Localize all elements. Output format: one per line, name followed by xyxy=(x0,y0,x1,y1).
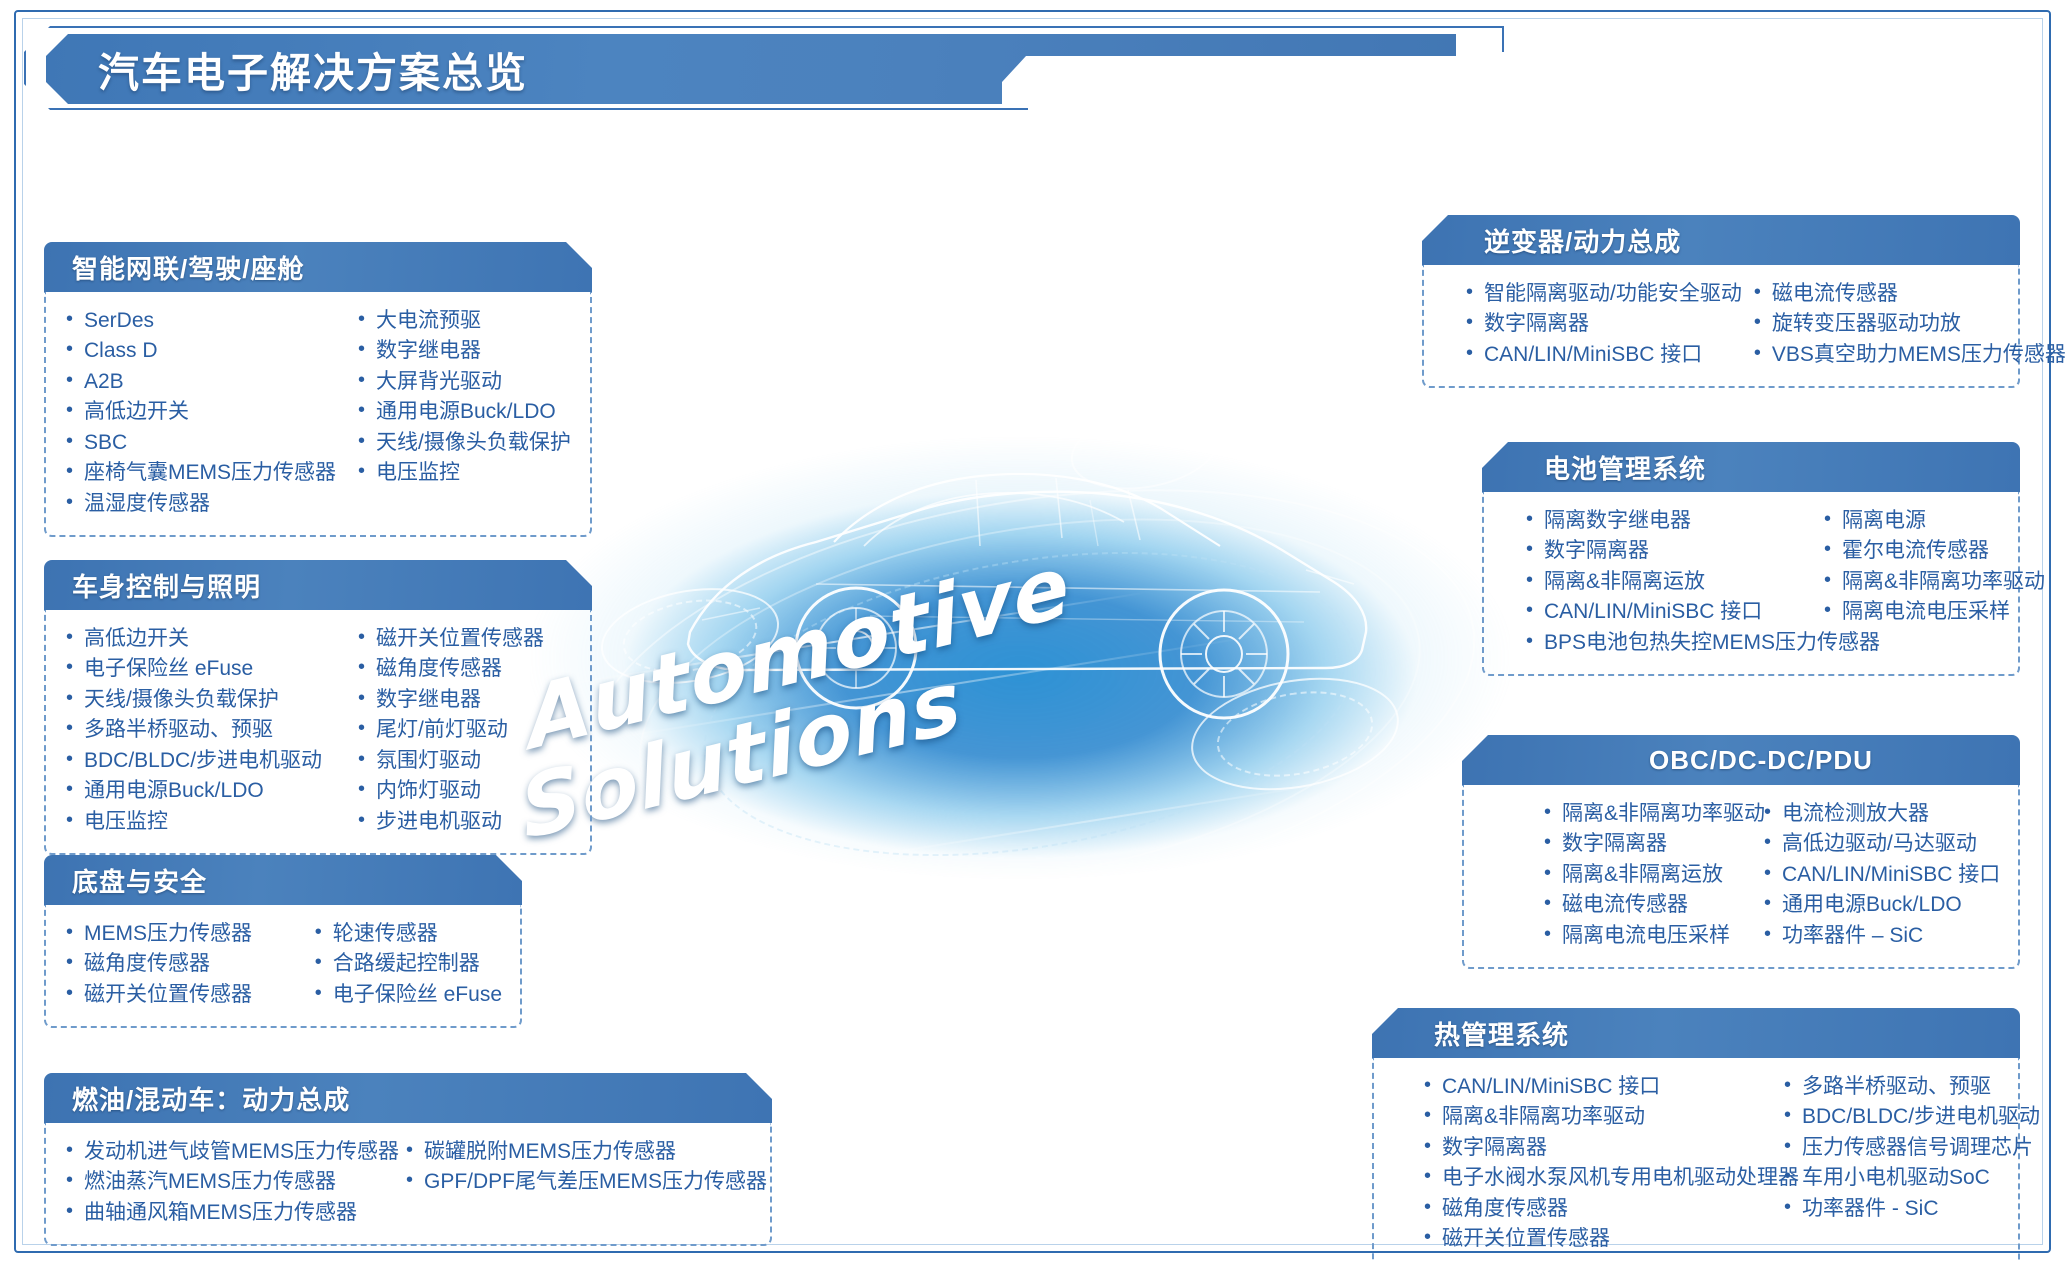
list-item: CAN/LIN/MiniSBC 接口 xyxy=(1422,1072,1772,1102)
list-item: A2B xyxy=(64,367,346,397)
list-item: 天线/摄像头负载保护 xyxy=(356,428,571,458)
list-item: 步进电机驱动 xyxy=(356,807,544,837)
panel-thermal-management-system-title: 热管理系统 xyxy=(1372,1008,2020,1058)
list-item: 功率器件 – SiC xyxy=(1762,921,2000,951)
list-item: 电子水阀水泵风机专用电机驱动处理器 xyxy=(1422,1163,1772,1193)
panel-chassis-safety-body: MEMS压力传感器 磁角度传感器 磁开关位置传感器 轮速传感器 合路缓起控制器 … xyxy=(44,905,522,1028)
panel-inverter-powertrain-body: 智能隔离驱动/功能安全驱动 数字隔离器 CAN/LIN/MiniSBC 接口 磁… xyxy=(1422,265,2020,388)
feature-list: 大电流预驱 数字继电器 大屏背光驱动 通用电源Buck/LDO 天线/摄像头负载… xyxy=(356,306,571,489)
panel-body-control-lighting-title: 车身控制与照明 xyxy=(44,560,592,610)
column-2: 大电流预驱 数字继电器 大屏背光驱动 通用电源Buck/LDO 天线/摄像头负载… xyxy=(356,306,571,519)
list-item: 隔离数字继电器 xyxy=(1524,506,1812,536)
panel-battery-management-system-title: 电池管理系统 xyxy=(1482,442,2020,492)
feature-list: 高低边开关 电子保险丝 eFuse 天线/摄像头负载保护 多路半桥驱动、预驱 B… xyxy=(64,624,346,837)
feature-list: 多路半桥驱动、预驱 BDC/BLDC/步进电机驱动 压力传感器信号调理芯片 车用… xyxy=(1782,1072,2040,1224)
list-item: 智能隔离驱动/功能安全驱动 xyxy=(1464,279,1742,309)
column-2: 轮速传感器 合路缓起控制器 电子保险丝 eFuse xyxy=(313,919,502,1010)
header-banner: 汽车电子解决方案总览 xyxy=(46,34,1456,104)
list-item: 磁角度传感器 xyxy=(1422,1194,1772,1224)
panel-obc-dcdc-pdu[interactable]: OBC/DC-DC/PDU 隔离&非隔离功率驱动 数字隔离器 隔离&非隔离运放 … xyxy=(1462,735,2020,969)
list-item: 电子保险丝 eFuse xyxy=(64,654,346,684)
list-item: 数字隔离器 xyxy=(1422,1133,1772,1163)
list-item: 多路半桥驱动、预驱 xyxy=(1782,1072,2040,1102)
panel-intelligent-cockpit-title: 智能网联/驾驶/座舱 xyxy=(44,242,592,292)
list-item: 隔离电源 xyxy=(1822,506,2045,536)
car-wireframe-icon xyxy=(620,370,1420,750)
column-2: 碳罐脱附MEMS压力传感器 GPF/DPF尾气差压MEMS压力传感器 xyxy=(404,1137,767,1228)
column-2: 多路半桥驱动、预驱 BDC/BLDC/步进电机驱动 压力传感器信号调理芯片 车用… xyxy=(1782,1072,2040,1255)
poster-root: 汽车电子解决方案总览 xyxy=(0,0,2065,1263)
list-item: 磁开关位置传感器 xyxy=(1422,1224,1772,1254)
panel-body-control-lighting[interactable]: 车身控制与照明 高低边开关 电子保险丝 eFuse 天线/摄像头负载保护 多路半… xyxy=(44,560,592,855)
column-2: 电流检测放大器 高低边驱动/马达驱动 CAN/LIN/MiniSBC 接口 通用… xyxy=(1762,799,2000,951)
panel-battery-management-system[interactable]: 电池管理系统 隔离数字继电器 数字隔离器 隔离&非隔离运放 CAN/LIN/Mi… xyxy=(1482,442,2020,676)
feature-list: 磁电流传感器 旋转变压器驱动功放 VBS真空助力MEMS压力传感器 xyxy=(1752,279,2065,370)
list-item: 隔离电流电压采样 xyxy=(1542,921,1752,951)
list-item: 隔离&非隔离运放 xyxy=(1542,860,1752,890)
list-item: 燃油蒸汽MEMS压力传感器 xyxy=(64,1167,394,1197)
list-item: 轮速传感器 xyxy=(313,919,502,949)
panel-body-control-lighting-body: 高低边开关 电子保险丝 eFuse 天线/摄像头负载保护 多路半桥驱动、预驱 B… xyxy=(44,610,592,855)
list-item: 大电流预驱 xyxy=(356,306,571,336)
panel-chassis-safety[interactable]: 底盘与安全 MEMS压力传感器 磁角度传感器 磁开关位置传感器 轮速传感器 合路… xyxy=(44,855,522,1028)
list-item: 数字继电器 xyxy=(356,685,544,715)
panel-chassis-safety-title: 底盘与安全 xyxy=(44,855,522,905)
list-item: 碳罐脱附MEMS压力传感器 xyxy=(404,1137,767,1167)
list-item: 数字隔离器 xyxy=(1542,829,1752,859)
feature-list: 隔离&非隔离功率驱动 数字隔离器 隔离&非隔离运放 磁电流传感器 隔离电流电压采… xyxy=(1542,799,1752,951)
list-item: 氛围灯驱动 xyxy=(356,746,544,776)
page-title: 汽车电子解决方案总览 xyxy=(98,39,528,99)
feature-list: 隔离电源 霍尔电流传感器 隔离&非隔离功率驱动 隔离电流电压采样 xyxy=(1822,506,2045,628)
panel-intelligent-cockpit[interactable]: 智能网联/驾驶/座舱 SerDes Class D A2B 高低边开关 SBC … xyxy=(44,242,592,537)
list-item: 电压监控 xyxy=(64,807,346,837)
list-item: 电子保险丝 eFuse xyxy=(313,980,502,1010)
list-item: 尾灯/前灯驱动 xyxy=(356,715,544,745)
list-item: 磁电流传感器 xyxy=(1542,890,1752,920)
panel-obc-dcdc-pdu-title: OBC/DC-DC/PDU xyxy=(1462,735,2020,785)
list-item: 压力传感器信号调理芯片 xyxy=(1782,1133,2040,1163)
list-item: 高低边开关 xyxy=(64,624,346,654)
list-item: 隔离电流电压采样 xyxy=(1822,597,2045,627)
list-item: 数字继电器 xyxy=(356,336,571,366)
list-item: 发动机进气歧管MEMS压力传感器 xyxy=(64,1137,394,1167)
list-item: 旋转变压器驱动功放 xyxy=(1752,309,2065,339)
feature-list: 发动机进气歧管MEMS压力传感器 燃油蒸汽MEMS压力传感器 曲轴通风箱MEMS… xyxy=(64,1137,394,1228)
list-item: 曲轴通风箱MEMS压力传感器 xyxy=(64,1198,394,1228)
list-item: BDC/BLDC/步进电机驱动 xyxy=(64,746,346,776)
list-item: 磁角度传感器 xyxy=(64,949,303,979)
list-item: 内饰灯驱动 xyxy=(356,776,544,806)
feature-list: SerDes Class D A2B 高低边开关 SBC 座椅气囊MEMS压力传… xyxy=(64,306,346,519)
column-2: 磁开关位置传感器 磁角度传感器 数字继电器 尾灯/前灯驱动 氛围灯驱动 内饰灯驱… xyxy=(356,624,544,837)
list-item: 电压监控 xyxy=(356,458,571,488)
list-item: 隔离&非隔离功率驱动 xyxy=(1542,799,1752,829)
list-item: SBC xyxy=(64,428,346,458)
list-item: BDC/BLDC/步进电机驱动 xyxy=(1782,1102,2040,1132)
panel-fuel-hybrid-powertrain-title: 燃油/混动车：动力总成 xyxy=(44,1073,772,1123)
list-item: VBS真空助力MEMS压力传感器 xyxy=(1752,340,2065,370)
feature-list: CAN/LIN/MiniSBC 接口 隔离&非隔离功率驱动 数字隔离器 电子水阀… xyxy=(1422,1072,1772,1255)
list-item: GPF/DPF尾气差压MEMS压力传感器 xyxy=(404,1167,767,1197)
list-item: CAN/LIN/MiniSBC 接口 xyxy=(1762,860,2000,890)
column-1: 高低边开关 电子保险丝 eFuse 天线/摄像头负载保护 多路半桥驱动、预驱 B… xyxy=(64,624,346,837)
list-item: 隔离&非隔离运放 xyxy=(1524,567,1812,597)
list-item: 磁开关位置传感器 xyxy=(64,980,303,1010)
list-item: 磁角度传感器 xyxy=(356,654,544,684)
panel-fuel-hybrid-powertrain[interactable]: 燃油/混动车：动力总成 发动机进气歧管MEMS压力传感器 燃油蒸汽MEMS压力传… xyxy=(44,1073,772,1246)
panel-intelligent-cockpit-body: SerDes Class D A2B 高低边开关 SBC 座椅气囊MEMS压力传… xyxy=(44,292,592,537)
list-item: 磁开关位置传感器 xyxy=(356,624,544,654)
column-1: CAN/LIN/MiniSBC 接口 隔离&非隔离功率驱动 数字隔离器 电子水阀… xyxy=(1422,1072,1772,1255)
feature-list: 电流检测放大器 高低边驱动/马达驱动 CAN/LIN/MiniSBC 接口 通用… xyxy=(1762,799,2000,951)
panel-inverter-powertrain-title: 逆变器/动力总成 xyxy=(1422,215,2020,265)
list-item: Class D xyxy=(64,336,346,366)
list-item: 车用小电机驱动SoC xyxy=(1782,1163,2040,1193)
list-item: MEMS压力传感器 xyxy=(64,919,303,949)
hero-illustration: Automotive Solutions xyxy=(470,260,1560,960)
list-item: 数字隔离器 xyxy=(1464,309,1742,339)
list-item: 合路缓起控制器 xyxy=(313,949,502,979)
list-item: 通用电源Buck/LDO xyxy=(64,776,346,806)
panel-thermal-management-system[interactable]: 热管理系统 CAN/LIN/MiniSBC 接口 隔离&非隔离功率驱动 数字隔离… xyxy=(1372,1008,2020,1263)
column-1: 智能隔离驱动/功能安全驱动 数字隔离器 CAN/LIN/MiniSBC 接口 xyxy=(1464,279,1742,370)
panel-obc-dcdc-pdu-body: 隔离&非隔离功率驱动 数字隔离器 隔离&非隔离运放 磁电流传感器 隔离电流电压采… xyxy=(1462,785,2020,969)
feature-list: 碳罐脱附MEMS压力传感器 GPF/DPF尾气差压MEMS压力传感器 xyxy=(404,1137,767,1198)
panel-fuel-hybrid-powertrain-body: 发动机进气歧管MEMS压力传感器 燃油蒸汽MEMS压力传感器 曲轴通风箱MEMS… xyxy=(44,1123,772,1246)
list-item: CAN/LIN/MiniSBC 接口 xyxy=(1464,340,1742,370)
list-item: 温湿度传感器 xyxy=(64,489,346,519)
list-item: CAN/LIN/MiniSBC 接口 xyxy=(1524,597,1812,627)
list-item: BPS电池包热失控MEMS压力传感器 xyxy=(1524,628,1812,658)
list-item: 座椅气囊MEMS压力传感器 xyxy=(64,458,346,488)
panel-thermal-management-system-body: CAN/LIN/MiniSBC 接口 隔离&非隔离功率驱动 数字隔离器 电子水阀… xyxy=(1372,1058,2020,1263)
column-1: 发动机进气歧管MEMS压力传感器 燃油蒸汽MEMS压力传感器 曲轴通风箱MEMS… xyxy=(64,1137,394,1228)
feature-list: 隔离数字继电器 数字隔离器 隔离&非隔离运放 CAN/LIN/MiniSBC 接… xyxy=(1524,506,1812,658)
feature-list: MEMS压力传感器 磁角度传感器 磁开关位置传感器 xyxy=(64,919,303,1010)
feature-list: 轮速传感器 合路缓起控制器 电子保险丝 eFuse xyxy=(313,919,502,1010)
list-item: 通用电源Buck/LDO xyxy=(356,397,571,427)
column-1: MEMS压力传感器 磁角度传感器 磁开关位置传感器 xyxy=(64,919,303,1010)
list-item: 电流检测放大器 xyxy=(1762,799,2000,829)
column-1: 隔离&非隔离功率驱动 数字隔离器 隔离&非隔离运放 磁电流传感器 隔离电流电压采… xyxy=(1542,799,1752,951)
list-item: 磁电流传感器 xyxy=(1752,279,2065,309)
column-1: 隔离数字继电器 数字隔离器 隔离&非隔离运放 CAN/LIN/MiniSBC 接… xyxy=(1524,506,1812,658)
panel-inverter-powertrain[interactable]: 逆变器/动力总成 智能隔离驱动/功能安全驱动 数字隔离器 CAN/LIN/Min… xyxy=(1422,215,2020,388)
list-item: 隔离&非隔离功率驱动 xyxy=(1422,1102,1772,1132)
list-item: 天线/摄像头负载保护 xyxy=(64,685,346,715)
list-item: 数字隔离器 xyxy=(1524,536,1812,566)
list-item: 大屏背光驱动 xyxy=(356,367,571,397)
header: 汽车电子解决方案总览 xyxy=(24,26,2014,116)
list-item: 高低边驱动/马达驱动 xyxy=(1762,829,2000,859)
panel-battery-management-system-body: 隔离数字继电器 数字隔离器 隔离&非隔离运放 CAN/LIN/MiniSBC 接… xyxy=(1482,492,2020,676)
list-item: 高低边开关 xyxy=(64,397,346,427)
list-item: SerDes xyxy=(64,306,346,336)
feature-list: 智能隔离驱动/功能安全驱动 数字隔离器 CAN/LIN/MiniSBC 接口 xyxy=(1464,279,1742,370)
column-1: SerDes Class D A2B 高低边开关 SBC 座椅气囊MEMS压力传… xyxy=(64,306,346,519)
feature-list: 磁开关位置传感器 磁角度传感器 数字继电器 尾灯/前灯驱动 氛围灯驱动 内饰灯驱… xyxy=(356,624,544,837)
list-item: 霍尔电流传感器 xyxy=(1822,536,2045,566)
list-item: 多路半桥驱动、预驱 xyxy=(64,715,346,745)
column-2: 磁电流传感器 旋转变压器驱动功放 VBS真空助力MEMS压力传感器 xyxy=(1752,279,2065,370)
list-item: 通用电源Buck/LDO xyxy=(1762,890,2000,920)
list-item: 隔离&非隔离功率驱动 xyxy=(1822,567,2045,597)
list-item: 功率器件 - SiC xyxy=(1782,1194,2040,1224)
